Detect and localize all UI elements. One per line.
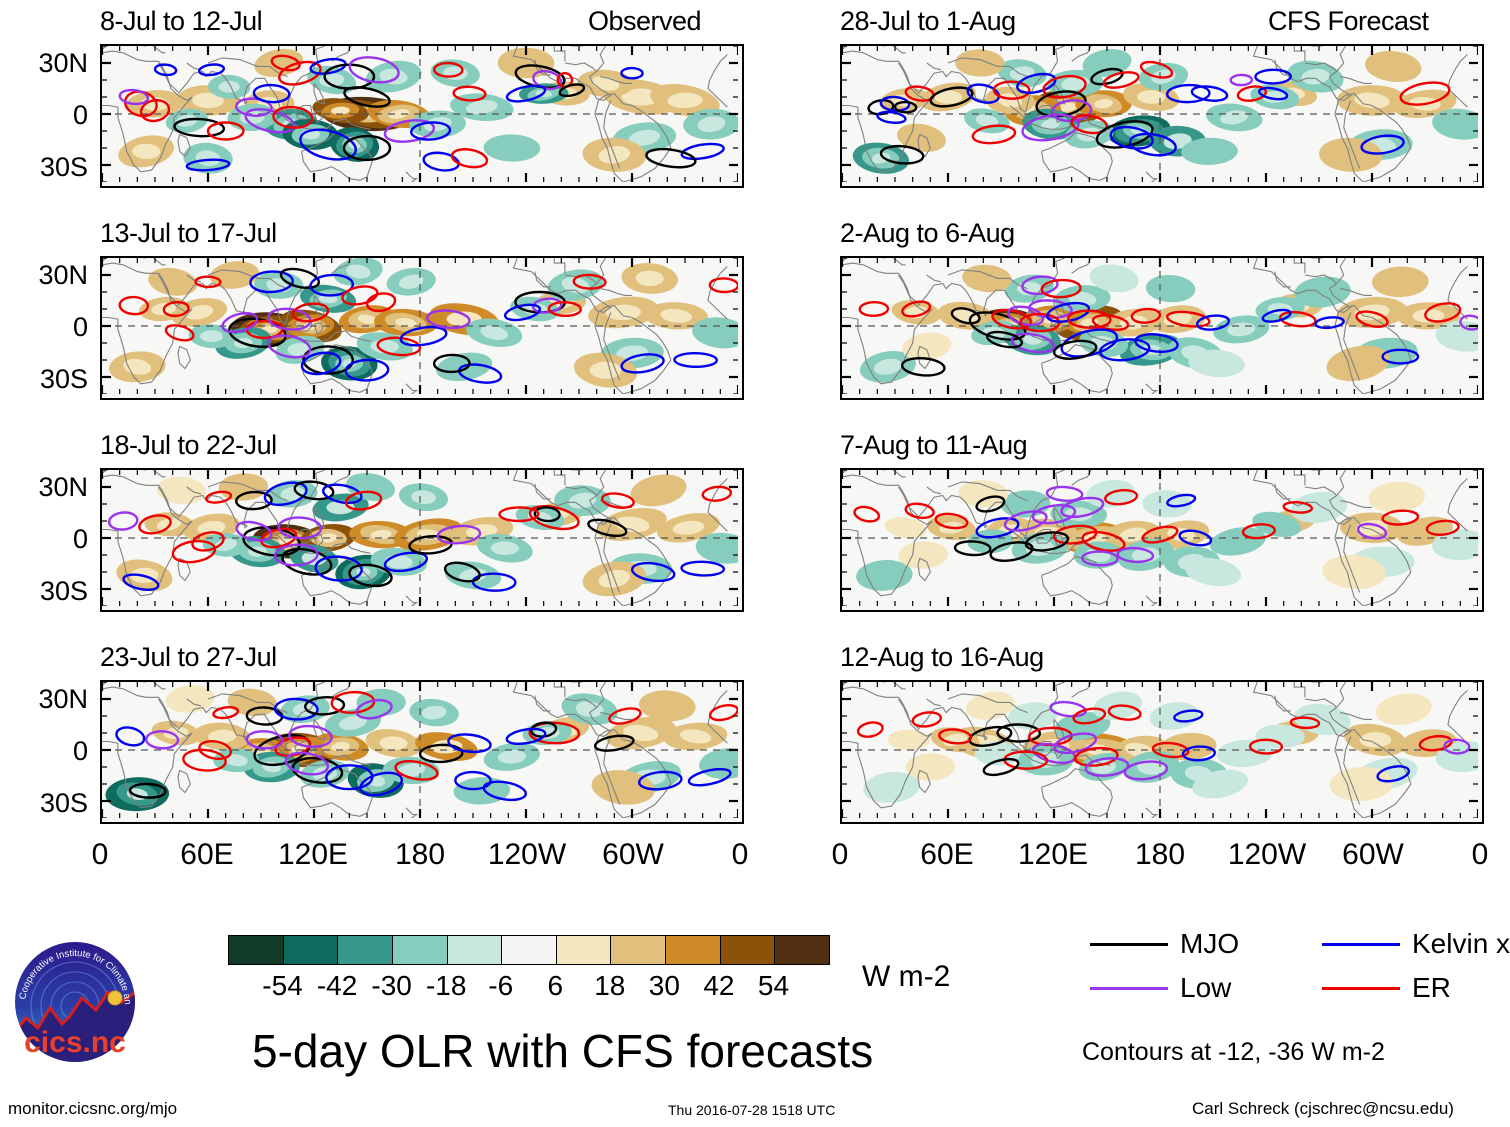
- y-axis-label-0-row1: 0: [0, 102, 88, 129]
- contour-kel: [155, 64, 177, 76]
- colorbar-segment-8: [665, 936, 720, 964]
- contour-kel: [681, 561, 724, 576]
- map-panel-forecast-4[interactable]: [840, 680, 1484, 824]
- legend-entry-er: ER: [1322, 974, 1451, 1002]
- y-axis-label-30s-row4: 30S: [0, 790, 88, 817]
- colorbar-tick-54: 54: [758, 972, 789, 1000]
- contour-low: [1231, 75, 1252, 86]
- contour-er: [709, 703, 738, 723]
- column-header-cfs-forecast: CFS Forecast: [1268, 8, 1429, 35]
- colorbar-tick-18: 18: [594, 972, 625, 1000]
- contour-er: [853, 505, 880, 524]
- colorbar-tick-42: 42: [703, 972, 734, 1000]
- contour-legend: MJO Low Kelvin x2 ER: [1090, 930, 1510, 1010]
- map-panel-observed-4[interactable]: [100, 680, 744, 824]
- colorbar-labels: -54-42-30-18-6618304254: [228, 972, 828, 1002]
- legend-entry-mjo: MJO: [1090, 930, 1239, 958]
- map-panel-observed-3[interactable]: [100, 468, 744, 612]
- map-field-svg: [842, 682, 1478, 818]
- legend-entry-low: Low: [1090, 974, 1231, 1002]
- contour-kel: [1315, 316, 1344, 329]
- contour-levels-note: Contours at -12, -36 W m-2: [1082, 1040, 1385, 1065]
- x-tick-left-360: 0: [732, 840, 749, 870]
- colorbar-segment-9: [720, 936, 775, 964]
- contour-er: [905, 502, 935, 520]
- contour-er: [208, 122, 243, 139]
- contour-kel: [621, 68, 642, 79]
- map-field-svg: [102, 46, 738, 182]
- contour-er: [857, 721, 884, 739]
- y-axis-label-30n-row2: 30N: [0, 262, 88, 289]
- panel-title-left-3: 18-Jul to 22-Jul: [100, 432, 277, 459]
- legend-label-low: Low: [1180, 974, 1231, 1002]
- legend-swatch-low: [1090, 987, 1168, 990]
- contour-er: [702, 486, 731, 502]
- contour-er: [710, 278, 738, 292]
- map-panel-forecast-3[interactable]: [840, 468, 1484, 612]
- map-field-svg: [842, 46, 1478, 182]
- x-tick-left-0: 0: [92, 840, 109, 870]
- map-panel-observed-2[interactable]: [100, 256, 744, 400]
- y-axis-label-30s-row2: 30S: [0, 366, 88, 393]
- legend-label-kelvin: Kelvin x2: [1412, 930, 1510, 958]
- contour-low: [108, 511, 138, 531]
- x-tick-left-60w: 60W: [602, 840, 664, 870]
- map-field-svg: [102, 470, 738, 606]
- legend-label-mjo: MJO: [1180, 930, 1239, 958]
- x-tick-right-0: 0: [832, 840, 849, 870]
- y-axis-label-30s-row3: 30S: [0, 578, 88, 605]
- panel-title-left-1: 8-Jul to 12-Jul: [100, 8, 262, 35]
- panel-title-left-4: 23-Jul to 27-Jul: [100, 644, 277, 671]
- map-panel-forecast-2[interactable]: [840, 256, 1484, 400]
- contour-kel: [199, 63, 225, 76]
- colorbar-tick-30: 30: [649, 972, 680, 1000]
- colorbar-tick--54: -54: [262, 972, 302, 1000]
- y-axis-label-0-row4: 0: [0, 738, 88, 765]
- figure-title: 5-day OLR with CFS forecasts: [252, 1028, 873, 1074]
- map-field-svg: [102, 682, 738, 818]
- x-tick-right-180: 180: [1135, 840, 1185, 870]
- colorbar-segment-10: [774, 936, 829, 964]
- svg-text:cics.nc: cics.nc: [24, 1026, 126, 1059]
- x-axis-right: 0 60E 120E 180 120W 60W 0: [840, 840, 1480, 880]
- colorbar-units-label: W m-2: [862, 962, 950, 992]
- x-tick-right-120w: 120W: [1228, 840, 1306, 870]
- legend-swatch-kelvin: [1322, 943, 1400, 946]
- colorbar-segment-3: [392, 936, 447, 964]
- y-axis-label-0-row3: 0: [0, 526, 88, 553]
- y-axis-label-30n-row1: 30N: [0, 50, 88, 77]
- x-tick-right-360: 0: [1472, 840, 1489, 870]
- legend-swatch-mjo: [1090, 943, 1168, 946]
- legend-label-er: ER: [1412, 974, 1451, 1002]
- colorbar-segment-5: [501, 936, 556, 964]
- colorbar: [228, 935, 830, 965]
- contour-kel: [115, 725, 147, 748]
- panel-title-right-4: 12-Aug to 16-Aug: [840, 644, 1044, 671]
- colorbar-tick--18: -18: [426, 972, 466, 1000]
- colorbar-segment-6: [556, 936, 611, 964]
- x-tick-right-60e: 60E: [920, 840, 973, 870]
- contour-er: [860, 302, 889, 316]
- map-field-svg: [842, 470, 1478, 606]
- colorbar-tick-6: 6: [547, 972, 563, 1000]
- y-axis-label-30n-row3: 30N: [0, 474, 88, 501]
- map-field-svg: [842, 258, 1478, 394]
- map-field-svg: [102, 258, 738, 394]
- colorbar-segment-1: [283, 936, 338, 964]
- panel-title-right-1: 28-Jul to 1-Aug: [840, 8, 1016, 35]
- colorbar-tick--42: -42: [317, 972, 357, 1000]
- x-tick-left-120w: 120W: [488, 840, 566, 870]
- x-tick-left-180: 180: [395, 840, 445, 870]
- colorbar-segment-4: [447, 936, 502, 964]
- panel-title-left-2: 13-Jul to 17-Jul: [100, 220, 277, 247]
- legend-swatch-er: [1322, 987, 1400, 990]
- y-axis-label-0-row2: 0: [0, 314, 88, 341]
- x-tick-right-120e: 120E: [1018, 840, 1088, 870]
- colorbar-segment-2: [337, 936, 392, 964]
- footer-timestamp: Thu 2016-07-28 1518 UTC: [668, 1102, 835, 1119]
- contour-kel: [674, 353, 717, 367]
- contour-kel: [1255, 70, 1291, 84]
- map-panel-forecast-1[interactable]: [840, 44, 1484, 188]
- colorbar-tick--30: -30: [371, 972, 411, 1000]
- cics-nc-logo: Cooperative Institute for Climate and Sa…: [12, 940, 138, 1066]
- footer-url[interactable]: monitor.cicsnc.org/mjo: [8, 1100, 177, 1117]
- y-axis-label-30s-row1: 30S: [0, 154, 88, 181]
- x-tick-right-60w: 60W: [1342, 840, 1404, 870]
- map-panel-observed-1[interactable]: [100, 44, 744, 188]
- colorbar-segment-0: [229, 936, 283, 964]
- x-axis-left: 0 60E 120E 180 120W 60W 0: [100, 840, 740, 880]
- colorbar-segment-7: [610, 936, 665, 964]
- contour-kel: [681, 141, 725, 161]
- x-tick-left-120e: 120E: [278, 840, 348, 870]
- column-header-observed: Observed: [588, 8, 701, 35]
- legend-entry-kelvin: Kelvin x2: [1322, 930, 1510, 958]
- panel-title-right-2: 2-Aug to 6-Aug: [840, 220, 1015, 247]
- footer-author[interactable]: Carl Schreck (cjschrec@ncsu.edu): [1192, 1100, 1454, 1117]
- y-axis-label-30n-row4: 30N: [0, 686, 88, 713]
- contour-er: [213, 706, 239, 720]
- colorbar-tick--6: -6: [488, 972, 513, 1000]
- panel-title-right-3: 7-Aug to 11-Aug: [840, 432, 1027, 459]
- x-tick-left-60e: 60E: [180, 840, 233, 870]
